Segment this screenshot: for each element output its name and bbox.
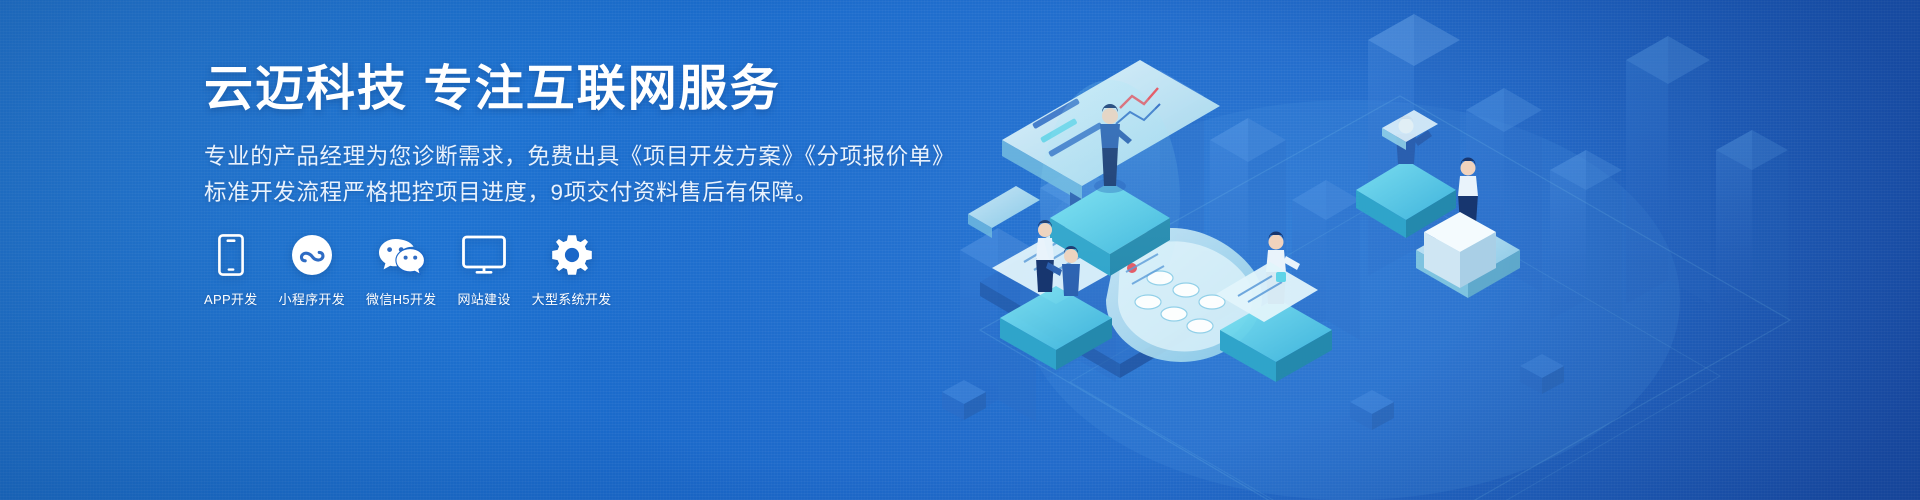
mobile-phone-icon	[218, 232, 244, 278]
person-standing-main	[1094, 104, 1132, 193]
pedestal-front-right	[1220, 298, 1332, 382]
service-item-large-system[interactable]: 大型系统开发	[532, 232, 612, 308]
decor-cubes	[942, 354, 1564, 430]
service-label: 网站建设	[457, 289, 510, 308]
document-sheet	[992, 224, 1134, 304]
illustration-glow	[1020, 100, 1680, 500]
figure-glow	[1040, 80, 1180, 320]
service-item-website[interactable]: 网站建设	[457, 232, 510, 308]
pedestal-front-left	[1000, 286, 1112, 370]
service-item-app[interactable]: APP开发	[204, 232, 258, 308]
flow-ribbon	[1106, 228, 1262, 362]
secondary-monitor	[968, 186, 1040, 238]
service-item-miniprogram[interactable]: 小程序开发	[279, 232, 346, 308]
dashboard-monitor-group	[980, 60, 1260, 378]
floating-tag	[1382, 110, 1438, 150]
person-walking-mid-right	[1458, 158, 1478, 224]
service-label: 大型系统开发	[532, 289, 612, 308]
page-title: 云迈科技 专注互联网服务	[204, 62, 904, 117]
isometric-illustration	[920, 0, 1920, 500]
white-cube	[1424, 212, 1496, 288]
gear-icon	[551, 232, 593, 278]
pedestal-upper-right	[1356, 160, 1456, 238]
banner-subtitle: 专业的产品经理为您诊断需求，免费出具《项目开发方案》《分项报价单》 标准开发流程…	[204, 139, 904, 212]
background-towers	[960, 14, 1788, 422]
pedestal-mid-right	[1416, 220, 1520, 298]
banner-content: 云迈科技 专注互联网服务 专业的产品经理为您诊断需求，免费出具《项目开发方案》《…	[204, 62, 904, 212]
floating-ui-card	[1216, 262, 1318, 322]
service-item-wechat-h5[interactable]: 微信H5开发	[366, 232, 436, 308]
pedestal-main	[1050, 182, 1170, 276]
service-label: APP开发	[204, 289, 258, 308]
wechat-icon	[377, 232, 425, 278]
hero-banner: 云迈科技 专注互联网服务 专业的产品经理为您诊断需求，免费出具《项目开发方案》《…	[0, 0, 1920, 500]
person-sitting-upper-right	[1396, 116, 1432, 164]
ground-grid	[980, 96, 1790, 500]
service-label: 微信H5开发	[366, 289, 436, 308]
subtitle-line-1: 专业的产品经理为您诊断需求，免费出具《项目开发方案》《分项报价单》	[204, 139, 904, 175]
mini-program-icon	[291, 232, 333, 278]
service-label: 小程序开发	[279, 289, 346, 308]
monitor-icon	[462, 232, 506, 278]
subtitle-line-2: 标准开发流程严格把控项目进度，9项交付资料售后有保障。	[204, 175, 904, 211]
service-list: APP开发 小程序开发	[204, 232, 611, 308]
person-front-right	[1266, 232, 1300, 304]
person-pair-front-left	[1036, 220, 1080, 296]
